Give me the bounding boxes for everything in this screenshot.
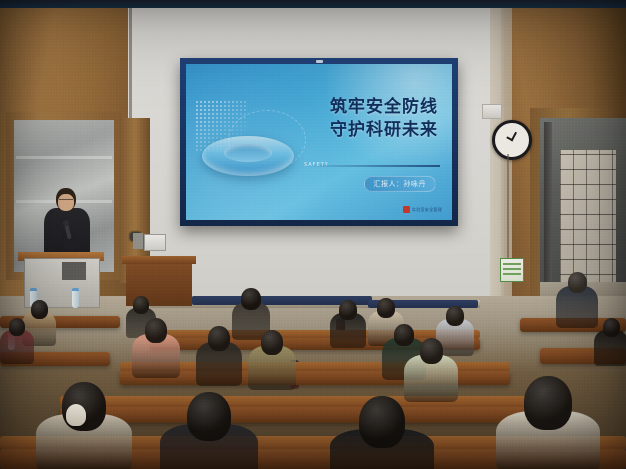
attendee-head (568, 272, 587, 293)
wall-clock (492, 120, 532, 160)
attendee-head (261, 330, 283, 355)
attendee-fore-right (330, 396, 434, 469)
water-bottle (72, 288, 79, 308)
slide-title: 筑牢安全防线 守护科研未来 (330, 96, 438, 142)
slide-footnote: SAFETY (304, 162, 329, 168)
attendee-head (208, 326, 230, 351)
logo-mark-icon (403, 206, 410, 213)
attendee-head (145, 318, 167, 343)
slide-logo: 实验室安全管理 (403, 206, 442, 213)
glasses-icon (59, 199, 73, 203)
wall-cable (507, 154, 509, 259)
attendee-head (31, 300, 48, 319)
camera-icon (316, 60, 323, 63)
power-socket-plate (482, 104, 502, 119)
attendee-head (359, 396, 405, 448)
attendee-head (603, 318, 620, 337)
attendee-fore-far-right (496, 376, 600, 469)
attendee-head (420, 338, 443, 364)
slide-canvas: 筑牢安全防线 守护科研未来 SAFETY 汇报人：孙咏丹 实验室安全管理 (186, 64, 452, 220)
attendee-row1-leftb (0, 318, 34, 364)
corridor-tiled-wall (560, 150, 616, 290)
cabinet-shelf (16, 156, 112, 159)
wall-bracket (133, 233, 143, 249)
attendee-glasses-m (330, 300, 366, 348)
wall-control-panel[interactable] (144, 234, 166, 251)
attendee-head (377, 298, 395, 318)
lectern-console (62, 262, 86, 280)
slide-presenter-badge: 汇报人：孙咏丹 (364, 176, 437, 192)
attendee-masked (196, 326, 242, 386)
attendee-head (9, 318, 25, 336)
attendee-head (187, 392, 231, 441)
presentation-display[interactable]: 筑牢安全防线 守护科研未来 SAFETY 汇报人：孙咏丹 实验室安全管理 (180, 58, 458, 226)
attendee-hoodie-green (404, 338, 458, 402)
attendee-olive (248, 330, 296, 390)
attendee-head (524, 376, 572, 430)
attendee-aisle-man (556, 272, 598, 328)
attendee-right-edge (594, 318, 626, 366)
shield-disc-inner (224, 144, 272, 162)
slide-title-line2: 守护科研未来 (330, 119, 438, 142)
attendee-head (339, 300, 357, 320)
notice-sign (500, 258, 524, 282)
hair-clip (66, 404, 86, 426)
attendee-peach (132, 318, 180, 378)
door-panel-edge (544, 122, 552, 302)
attendee-head (446, 306, 464, 326)
lecture-hall-photo: 筑牢安全防线 守护科研未来 SAFETY 汇报人：孙咏丹 实验室安全管理 (0, 0, 626, 469)
slide-title-line1: 筑牢安全防线 (330, 96, 438, 119)
attendee-fore-dark (160, 392, 258, 469)
attendee-head (133, 296, 149, 314)
attendee-head (241, 288, 261, 310)
logo-text: 实验室安全管理 (412, 207, 442, 213)
bench-row (60, 407, 560, 423)
attendee-fore-clip (36, 382, 132, 469)
